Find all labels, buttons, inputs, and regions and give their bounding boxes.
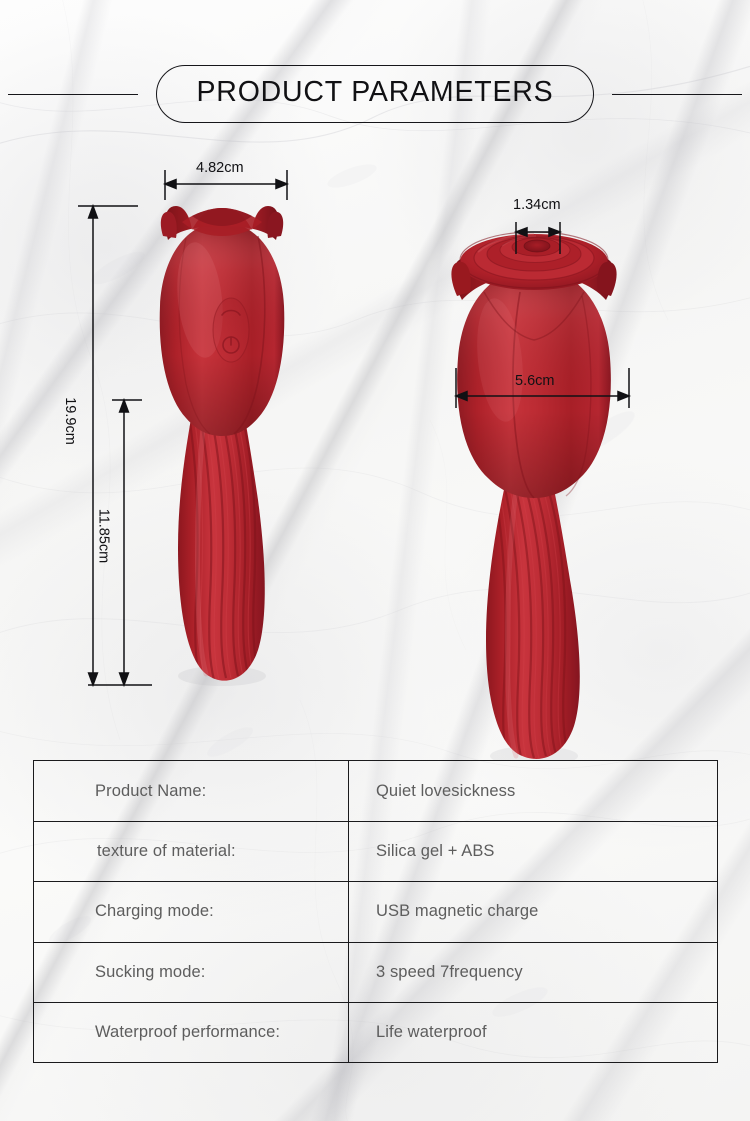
spec-value: 3 speed 7frequency (349, 943, 717, 1002)
rose-petal-rings (460, 232, 608, 290)
product-parameters-page: PRODUCT PARAMETERS (0, 0, 750, 1121)
spec-value: USB magnetic charge (349, 882, 717, 941)
spec-key: texture of material: (34, 822, 349, 881)
spec-key: Sucking mode: (34, 943, 349, 1002)
dimension-label-head-width: 5.6cm (515, 373, 555, 389)
spec-key: Product Name: (34, 761, 349, 821)
spec-value: Silica gel + ABS (349, 822, 717, 881)
product-right-image (451, 232, 616, 760)
table-row: texture of material: Silica gel + ABS (34, 821, 717, 881)
dimension-label-total-length: 19.9cm (62, 397, 78, 445)
table-row: Product Name: Quiet lovesickness (34, 761, 717, 821)
table-row: Charging mode: USB magnetic charge (34, 881, 717, 941)
dimension-label-opening: 1.34cm (513, 197, 561, 213)
dimension-line-total-length (78, 206, 152, 685)
spec-key: Waterproof performance: (34, 1003, 349, 1062)
table-row: Waterproof performance: Life waterproof (34, 1002, 717, 1062)
spec-value: Life waterproof (349, 1003, 717, 1062)
product-stage: 4.82cm 19.9cm 11.85cm 1.34cm 5.6cm (0, 0, 750, 760)
dimension-label-handle-length: 11.85cm (95, 509, 111, 564)
spec-value: Quiet lovesickness (349, 761, 717, 821)
product-left-image (160, 206, 285, 686)
specification-table: Product Name: Quiet lovesickness texture… (33, 760, 718, 1063)
dimension-label-width-left: 4.82cm (196, 160, 244, 176)
spec-key: Charging mode: (34, 882, 349, 941)
dimension-line-handle-length (112, 400, 142, 685)
table-row: Sucking mode: 3 speed 7frequency (34, 942, 717, 1002)
